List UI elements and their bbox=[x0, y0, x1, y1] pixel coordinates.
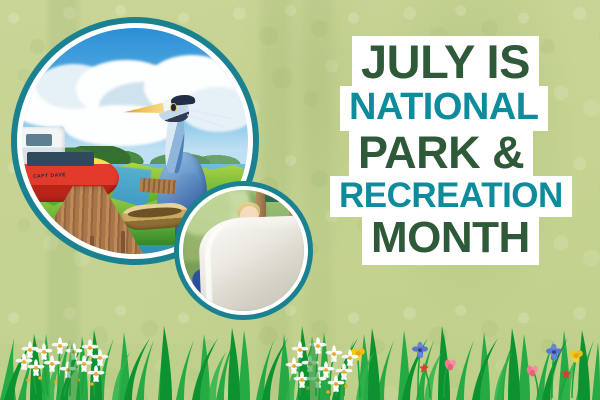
headline-line-3: PARK & bbox=[349, 128, 533, 179]
mural-dock-post bbox=[90, 236, 94, 254]
headline-line-1: JULY IS bbox=[352, 36, 539, 89]
mural-boat-deck bbox=[27, 152, 95, 166]
playground-slide-image bbox=[183, 190, 304, 311]
heron-eye bbox=[171, 104, 176, 111]
headline-line-4: RECREATION bbox=[330, 176, 572, 218]
mural-boat-name-text: CAPT DAVE bbox=[33, 172, 66, 180]
playground-green-rail bbox=[265, 195, 296, 202]
headline-block: JULY IS NATIONAL PARK & RECREATION MONTH bbox=[338, 36, 588, 265]
headline-line-5: MONTH bbox=[362, 214, 539, 264]
headline-line-2: NATIONAL bbox=[340, 86, 548, 130]
playground-slide-photo bbox=[174, 181, 313, 320]
playground-slide-edge bbox=[203, 217, 302, 310]
mural-dock-post bbox=[121, 231, 125, 254]
poster-canvas: CAPT DAVE bbox=[0, 0, 600, 400]
